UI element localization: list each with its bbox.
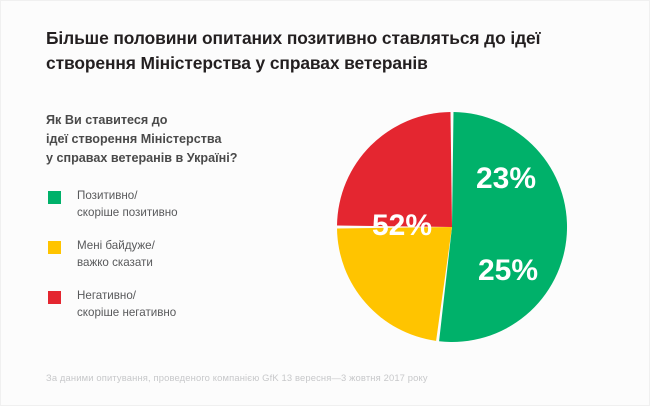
legend-swatch-red — [48, 291, 61, 304]
infographic-card: Більше половини опитаних позитивно ставл… — [0, 0, 650, 406]
pie-label-negative: 25% — [478, 254, 538, 287]
legend-item-neutral: Мені байдуже/ важко сказати — [46, 238, 296, 271]
legend-label-neutral-line-2: важко сказати — [77, 255, 296, 272]
question-line-1: Як Ви ставитеся до — [46, 111, 306, 130]
legend-label-neutral-line-1: Мені байдуже/ — [77, 238, 296, 255]
legend-item-negative: Негативно/ скоріше негативно — [46, 288, 296, 321]
legend-label-positive: Позитивно/ скоріше позитивно — [77, 188, 296, 221]
headline-line-1: Більше половини опитаних позитивно ставл… — [46, 26, 616, 51]
legend-label-negative-line-2: скоріше негативно — [77, 305, 296, 322]
legend-swatch-green — [48, 191, 61, 204]
pie-slice-positive — [439, 112, 567, 342]
pie-chart-svg: 52% 23% 25% — [330, 105, 580, 355]
question-line-3: у справах ветеранів в Україні? — [46, 149, 306, 168]
pie-label-positive: 52% — [372, 209, 432, 242]
legend-swatch-yellow — [48, 241, 61, 254]
survey-question: Як Ви ставитеся до ідеї створення Мініст… — [46, 111, 306, 168]
source-note: За даними опитування, проведеного компан… — [46, 371, 428, 385]
page-title: Більше половини опитаних позитивно ставл… — [46, 26, 616, 76]
chart-legend: Позитивно/ скоріше позитивно Мені байдуж… — [46, 188, 296, 338]
headline-line-2: створення Міністерства у справах ветеран… — [46, 51, 616, 76]
question-line-2: ідеї створення Міністерства — [46, 130, 306, 149]
pie-chart: 52% 23% 25% — [330, 105, 580, 355]
legend-label-negative: Негативно/ скоріше негативно — [77, 288, 296, 321]
legend-label-neutral: Мені байдуже/ важко сказати — [77, 238, 296, 271]
pie-slice-neutral — [337, 227, 452, 341]
legend-label-negative-line-1: Негативно/ — [77, 288, 296, 305]
legend-label-positive-line-1: Позитивно/ — [77, 188, 296, 205]
legend-item-positive: Позитивно/ скоріше позитивно — [46, 188, 296, 221]
pie-label-neutral: 23% — [476, 162, 536, 195]
legend-label-positive-line-2: скоріше позитивно — [77, 205, 296, 222]
